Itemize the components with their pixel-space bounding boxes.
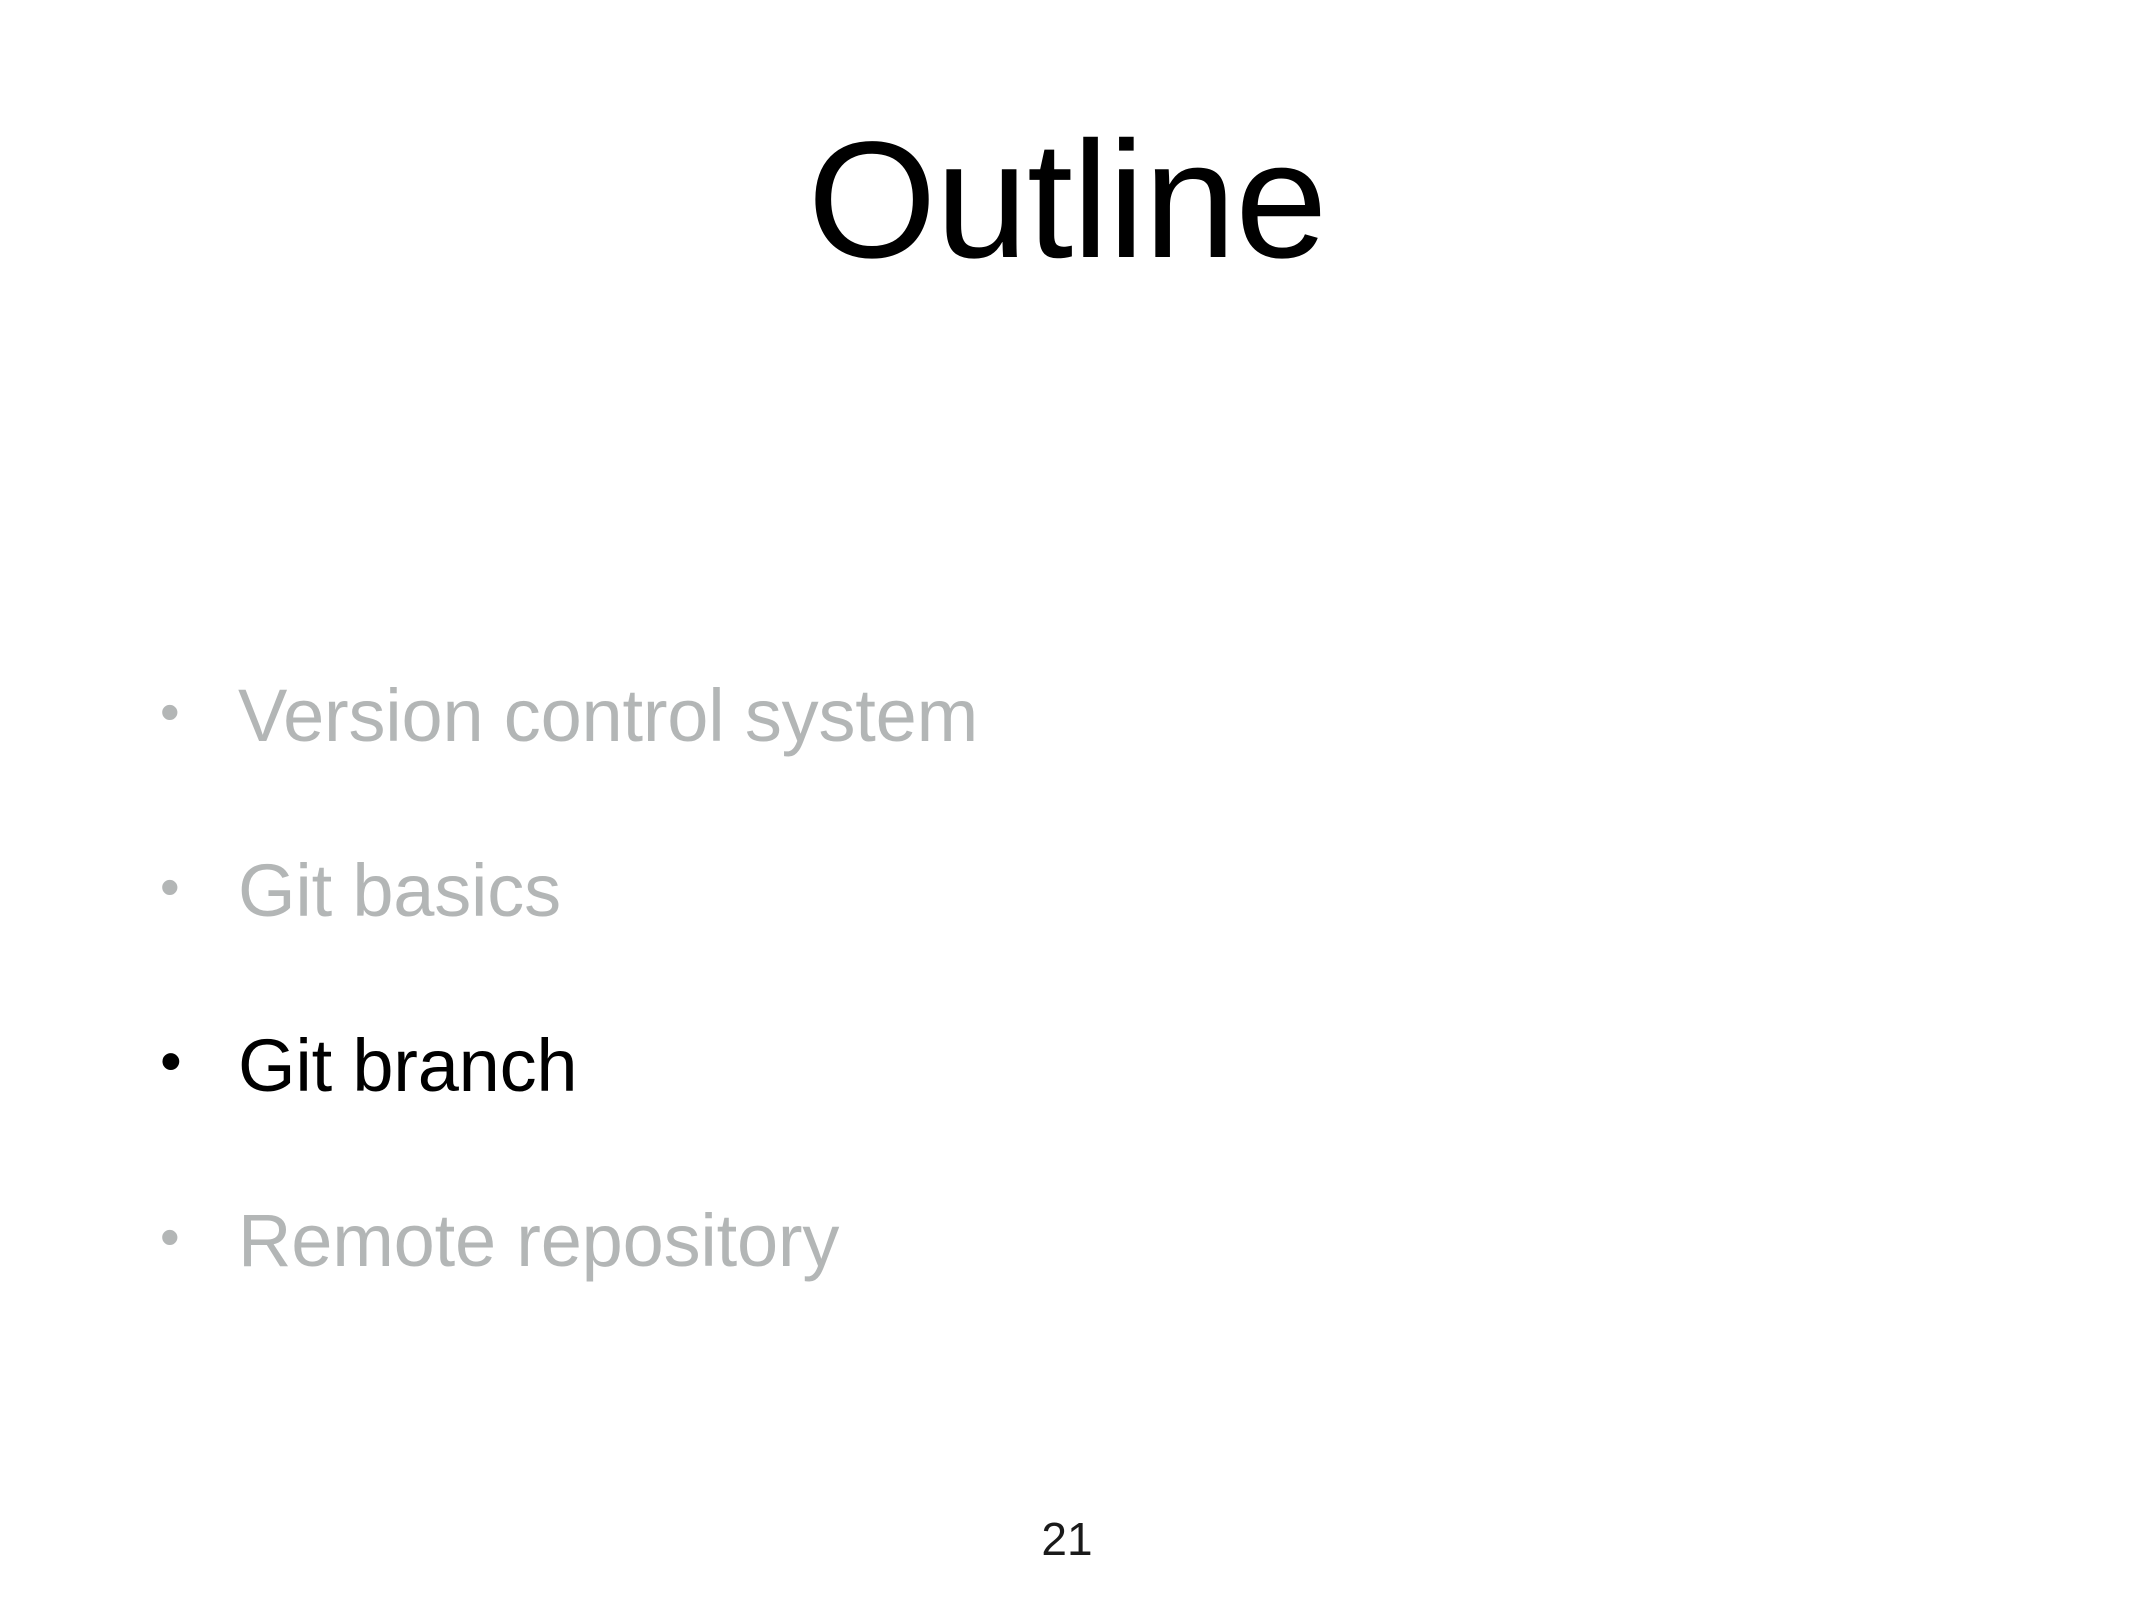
bullet-point-icon: • <box>160 859 182 915</box>
outline-item-label: Remote repository <box>238 1198 839 1283</box>
outline-item-label: Git branch <box>238 1023 577 1108</box>
outline-item-label: Version control system <box>238 673 978 758</box>
outline-item-git-basics[interactable]: • Git basics <box>160 803 1860 978</box>
outline-item-git-branch[interactable]: • Git branch <box>160 978 1860 1153</box>
bullet-point-icon: • <box>160 1209 182 1265</box>
outline-list: • Version control system • Git basics • … <box>160 628 1860 1328</box>
outline-item-version-control-system[interactable]: • Version control system <box>160 628 1860 803</box>
outline-item-label: Git basics <box>238 848 561 933</box>
bullet-point-icon: • <box>160 684 182 740</box>
presentation-slide: Outline • Version control system • Git b… <box>0 0 2134 1600</box>
page-number: 21 <box>0 1512 2134 1566</box>
page-title: Outline <box>0 118 2134 284</box>
bullet-point-icon: • <box>160 1031 182 1093</box>
outline-item-remote-repository[interactable]: • Remote repository <box>160 1153 1860 1328</box>
